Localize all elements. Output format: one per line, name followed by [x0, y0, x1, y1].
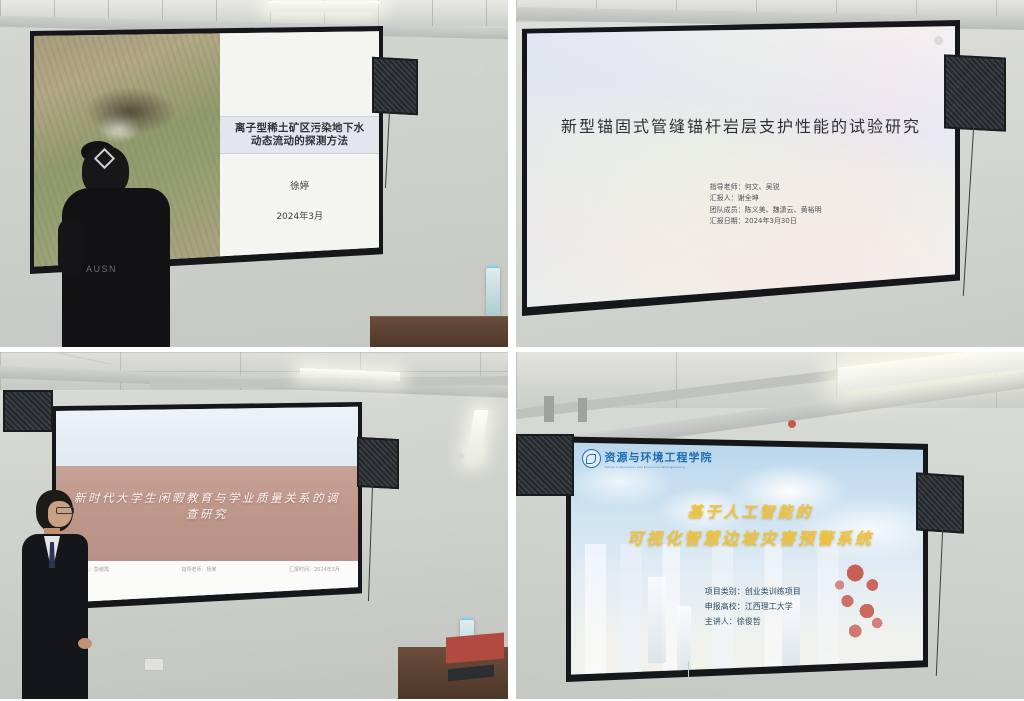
slide-content: 新型锚固式管缝锚杆岩层支护性能的试验研究 指导老师：何文、吴锐 汇报人：谢全坤 … — [527, 25, 955, 310]
glasses-icon — [56, 507, 74, 514]
projection-screen[interactable]: 新型锚固式管缝锚杆岩层支护性能的试验研究 指导老师：何文、吴锐 汇报人：谢全坤 … — [527, 25, 955, 310]
slide-tower — [648, 577, 666, 663]
college-logo-icon — [582, 449, 601, 468]
wall-speaker — [944, 54, 1006, 131]
panel-bottom-left[interactable]: 新时代大学生闲暇教育与学业质量关系的调查研究 汇报人：彭敏霞 指导老师：杨某 汇… — [0, 352, 508, 699]
arm — [58, 218, 84, 276]
wall-speaker — [372, 57, 418, 115]
slide-title-line2: 动态流动的探测方法 — [224, 135, 375, 148]
wall-cable — [688, 661, 689, 699]
panel-bottom-right[interactable]: 资源与环境工程学院 School of Resources and Enviro… — [516, 352, 1024, 699]
smoke-sensor-icon — [471, 66, 484, 75]
screen-mount-left — [544, 396, 554, 422]
slide-title-line1: 离子型稀土矿区污染地下水 — [224, 122, 375, 135]
slide-report-date: 汇报时间：2024年3月 — [289, 566, 340, 573]
wall-speaker-left — [516, 434, 574, 496]
slide-team-members: 团队成员：陈义美、魏潇云、黄裕明 — [710, 205, 822, 217]
college-name-cn: 资源与环境工程学院 — [605, 449, 713, 465]
slide-presenter: 主讲人：徐俊哲 — [705, 614, 801, 629]
slide-date: 2024年3月 — [220, 209, 379, 222]
slide-text-area: 离子型稀土矿区污染地下水 动态流动的探测方法 徐婷 2024年3月 — [220, 30, 379, 269]
slide-info-block: 指导老师：何文、吴锐 汇报人：谢全坤 团队成员：陈义美、魏潇云、黄裕明 汇报日期… — [710, 182, 822, 228]
projection-screen[interactable]: 新时代大学生闲暇教育与学业质量关系的调查研究 汇报人：彭敏霞 指导老师：杨某 汇… — [56, 406, 358, 605]
slide-advisor: 指导老师：杨某 — [182, 566, 217, 573]
wall-speaker — [916, 472, 964, 533]
hoodie-text: AUSN — [86, 264, 117, 274]
hand — [78, 638, 92, 649]
projection-screen[interactable]: 资源与环境工程学院 School of Resources and Enviro… — [571, 439, 923, 677]
wall-speaker — [357, 437, 399, 489]
slide-title-block: 基于人工智能的 可视化智慧边坡灾害预警系统 — [592, 501, 909, 549]
panel-top-left[interactable]: 离子型稀土矿区污染地下水 动态流动的探测方法 徐婷 2024年3月 AUSN — [0, 0, 508, 347]
slide-author: 徐婷 — [220, 178, 379, 192]
slide-hazard-map — [824, 553, 901, 653]
smoke-sensor-icon — [453, 452, 464, 460]
desk — [370, 317, 508, 347]
slide-title-line1: 基于人工智能的 — [592, 501, 909, 522]
wall-speaker-left — [3, 390, 53, 432]
slide-project-category: 项目类别：创业类训练项目 — [705, 584, 801, 599]
water-bottle — [486, 268, 500, 316]
power-outlet — [144, 658, 164, 671]
slide-title-block: 离子型稀土矿区污染地下水 动态流动的探测方法 — [220, 116, 379, 154]
slide-presenter: 汇报人：谢全坤 — [710, 193, 822, 205]
college-logo: 资源与环境工程学院 School of Resources and Enviro… — [582, 449, 713, 469]
presenter-person: AUSN — [62, 146, 170, 347]
slide-title-line2: 可视化智慧边坡灾害预警系统 — [592, 525, 909, 549]
slide-meta-row: 汇报人：彭敏霞 指导老师：杨某 汇报时间：2024年3月 — [74, 566, 340, 573]
ceiling-light — [266, 1, 379, 12]
slide-advisor: 指导老师：何文、吴锐 — [710, 182, 822, 194]
fire-sensor-icon — [788, 420, 796, 428]
presenter-person — [22, 490, 88, 699]
slide-title: 新型锚固式管缝锚杆岩层支护性能的试验研究 — [527, 113, 955, 137]
college-name-en: School of Resources and Environmental En… — [605, 465, 713, 469]
panel-top-right[interactable]: 新型锚固式管缝锚杆岩层支护性能的试验研究 指导老师：何文、吴锐 汇报人：谢全坤 … — [516, 0, 1024, 347]
slide-report-date: 汇报日期：2024年3月30日 — [710, 216, 822, 228]
screen-mount-bracket — [934, 36, 943, 45]
slide-content: 新时代大学生闲暇教育与学业质量关系的调查研究 汇报人：彭敏霞 指导老师：杨某 汇… — [56, 406, 358, 605]
photo-collage: 离子型稀土矿区污染地下水 动态流动的探测方法 徐婷 2024年3月 AUSN — [0, 0, 1024, 701]
slide-university: 申报高校：江西理工大学 — [705, 599, 801, 614]
red-folder — [446, 632, 504, 663]
screen-mount-right — [578, 398, 587, 422]
slide-title: 新时代大学生闲暇教育与学业质量关系的调查研究 — [68, 490, 346, 522]
slide-sky-band — [56, 406, 358, 466]
slide-content: 资源与环境工程学院 School of Resources and Enviro… — [571, 439, 923, 677]
slide-info-block: 项目类别：创业类训练项目 申报高校：江西理工大学 主讲人：徐俊哲 — [705, 584, 801, 629]
